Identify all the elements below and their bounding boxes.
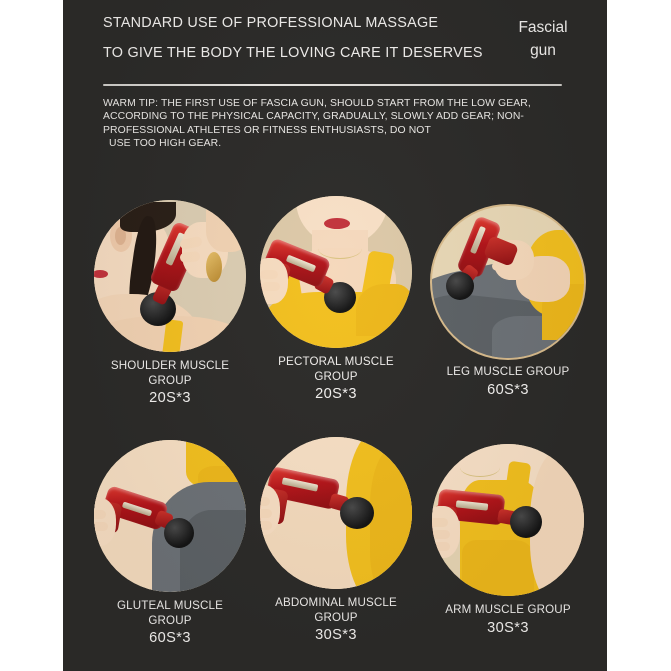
card-duration: 30S*3 (423, 620, 593, 637)
warm-tip-line-4: USE TOO HIGH GEAR. (103, 137, 563, 150)
dark-content-panel: STANDARD USE OF PROFESSIONAL MASSAGE TO … (63, 0, 607, 671)
caption-line-1: GLUTEAL MUSCLE (85, 599, 255, 614)
product-infographic: STANDARD USE OF PROFESSIONAL MASSAGE TO … (0, 0, 671, 671)
caption-line-2: GROUP (251, 611, 421, 626)
photo-abdominal-massage (260, 437, 412, 589)
caption-line-1: LEG MUSCLE GROUP (423, 365, 593, 380)
caption-line-2: GROUP (251, 370, 421, 385)
card-caption: ABDOMINAL MUSCLE GROUP (251, 596, 421, 625)
caption-line-1: SHOULDER MUSCLE (85, 359, 255, 374)
gun-head-icon (510, 506, 542, 538)
caption-line-2: GROUP (85, 614, 255, 629)
gun-head-icon (164, 518, 194, 548)
header-divider (103, 84, 562, 86)
brand-name: Fascial gun (493, 16, 593, 62)
card-caption: LEG MUSCLE GROUP (423, 365, 593, 380)
gun-head-icon (446, 272, 474, 300)
card-duration: 20S*3 (85, 390, 255, 407)
usage-card-arm: ARM MUSCLE GROUP 30S*3 (423, 444, 593, 637)
card-duration: 20S*3 (251, 386, 421, 403)
caption-line-1: ARM MUSCLE GROUP (423, 603, 593, 618)
brand-line-2: gun (493, 39, 593, 62)
usage-card-pectoral: PECTORAL MUSCLE GROUP 20S*3 (251, 196, 421, 403)
card-duration: 30S*3 (251, 627, 421, 644)
photo-pectoral-massage (260, 196, 412, 348)
card-caption: SHOULDER MUSCLE GROUP (85, 359, 255, 388)
usage-card-shoulder: SHOULDER MUSCLE GROUP 20S*3 (85, 200, 255, 407)
photo-gluteal-massage (94, 440, 246, 592)
caption-line-1: PECTORAL MUSCLE (251, 355, 421, 370)
warm-tip-line-3: PROFESSIONAL ATHLETES OR FITNESS ENTHUSI… (103, 124, 563, 137)
warm-tip-line-2: ACCORDING TO THE PHYSICAL CAPACITY, GRAD… (103, 110, 563, 123)
usage-card-leg: LEG MUSCLE GROUP 60S*3 (423, 206, 593, 399)
photo-leg-massage (432, 206, 584, 358)
usage-card-gluteal: GLUTEAL MUSCLE GROUP 60S*3 (85, 440, 255, 647)
caption-line-1: ABDOMINAL MUSCLE (251, 596, 421, 611)
caption-line-2: GROUP (85, 374, 255, 389)
card-caption: PECTORAL MUSCLE GROUP (251, 355, 421, 384)
usage-card-abdominal: ABDOMINAL MUSCLE GROUP 30S*3 (251, 437, 421, 644)
brand-line-1: Fascial (518, 19, 567, 36)
card-caption: ARM MUSCLE GROUP (423, 603, 593, 618)
card-caption: GLUTEAL MUSCLE GROUP (85, 599, 255, 628)
card-duration: 60S*3 (423, 382, 593, 399)
gun-head-icon (340, 497, 374, 529)
photo-arm-massage (432, 444, 584, 596)
warm-tip-block: WARM TIP: THE FIRST USE OF FASCIA GUN, S… (103, 97, 563, 151)
warm-tip-line-1: WARM TIP: THE FIRST USE OF FASCIA GUN, S… (103, 97, 563, 110)
photo-shoulder-massage (94, 200, 246, 352)
card-duration: 60S*3 (85, 630, 255, 647)
